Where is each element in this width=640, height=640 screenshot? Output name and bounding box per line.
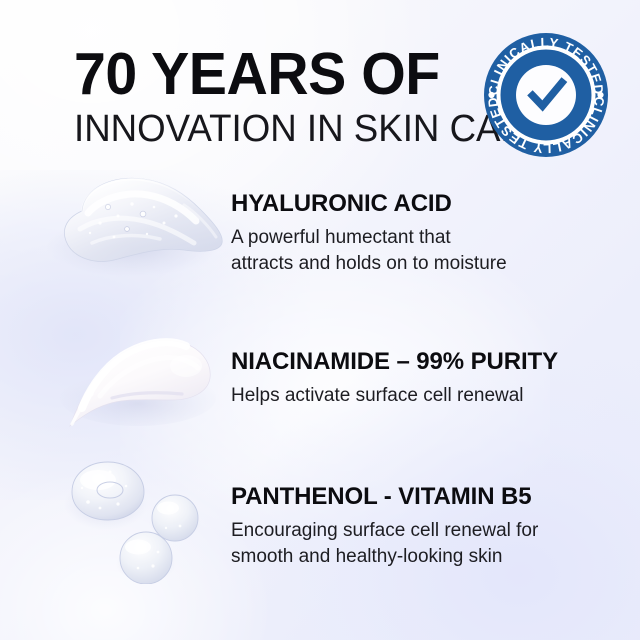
ingredient-description: Helps activate surface cell renewal <box>231 383 558 409</box>
ingredient-row: NIACINAMIDE – 99% PURITY Helps activate … <box>231 348 558 409</box>
ingredient-description: Encouraging surface cell renewal for smo… <box>231 518 538 569</box>
ingredient-row: PANTHENOL - VITAMIN B5 Encouraging surfa… <box>231 483 538 569</box>
badge-center-circle <box>516 65 576 125</box>
skincare-promo-poster: 70 YEARS OF INNOVATION IN SKIN CARE <box>0 0 640 640</box>
ingredient-description: A powerful humectant that attracts and h… <box>231 225 507 276</box>
page-subtitle: INNOVATION IN SKIN CARE <box>74 109 551 149</box>
ingredient-title: NIACINAMIDE – 99% PURITY <box>231 348 558 376</box>
clinically-tested-badge: CLINICALLY TESTED CLINICALLY TESTED <box>482 31 610 159</box>
ingredient-row: HYALURONIC ACID A powerful humectant tha… <box>231 190 507 276</box>
ingredient-title: PANTHENOL - VITAMIN B5 <box>231 483 538 511</box>
ingredient-title: HYALURONIC ACID <box>231 190 507 218</box>
